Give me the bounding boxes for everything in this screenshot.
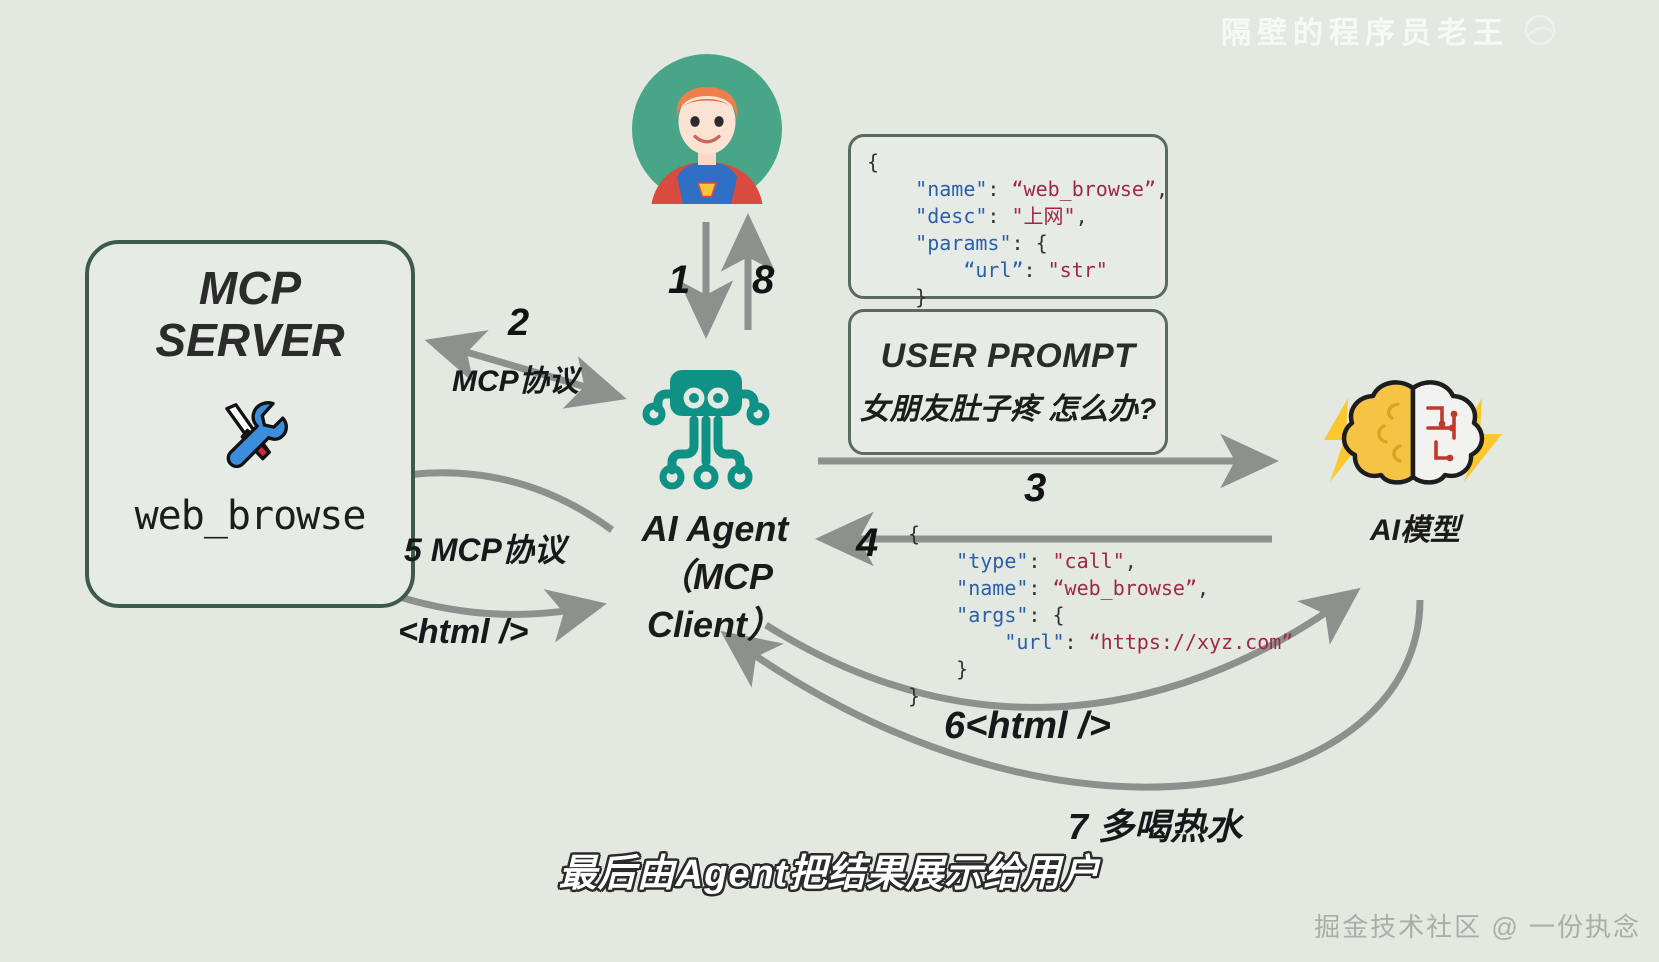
user-prompt-box: USER PROMPT 女朋友肚子疼 怎么办? [848,309,1168,455]
mcp-server-card: MCP SERVER web_browse [85,240,415,608]
label-html-response: <html /> [398,613,528,652]
label-step-2-text: MCP协议 [452,356,579,400]
label-step-8: 8 [752,258,774,303]
mcp-server-title: MCP SERVER [155,262,344,366]
user-prompt-title: USER PROMPT [881,337,1136,376]
tool-definition-box: { "name": “web_browse”, "desc": "上网", "p… [848,134,1168,299]
watermark-top-right: 隔壁的程序员老王 [1221,8,1509,52]
label-step-5: 5 MCP协议 [404,525,566,571]
label-step-4: 4 [856,521,878,566]
mcp-server-title-line1: MCP [155,262,344,314]
user-prompt-text: 女朋友肚子疼 怎么办? [860,384,1157,428]
ai-model-label: AI模型 [1330,505,1500,549]
tool-call-code: { "type": "call", "name": “web_browse”, … [908,521,1308,710]
label-step-2: 2 [508,302,529,345]
label-step-3: 3 [1024,466,1046,511]
hammer-and-wrench-icon [209,392,291,479]
user-avatar-icon [632,54,782,204]
watermark-bottom-right: 掘金技术社区 @ 一份执念 [1314,907,1641,944]
agent-label-line2: （MCP Client） [595,553,835,649]
label-step-1: 1 [668,258,690,303]
agent-label: AI Agent （MCP Client） [595,505,835,649]
tool-call-box: { "type": "call", "name": “web_browse”, … [908,521,1308,681]
diagram-canvas: MCP SERVER web_browse [0,0,1659,962]
mcp-server-title-line2: SERVER [155,314,344,366]
brain-lightning-icon [1310,370,1520,510]
octopus-chip-icon [626,364,786,499]
watermark-logo-icon [1516,6,1564,54]
label-step-6: 6<html /> [944,705,1111,748]
bottom-caption: 最后由Agent把结果展示给用户 [0,842,1659,897]
agent-label-line1: AI Agent [595,505,835,553]
mcp-tool-name: web_browse [135,493,366,539]
